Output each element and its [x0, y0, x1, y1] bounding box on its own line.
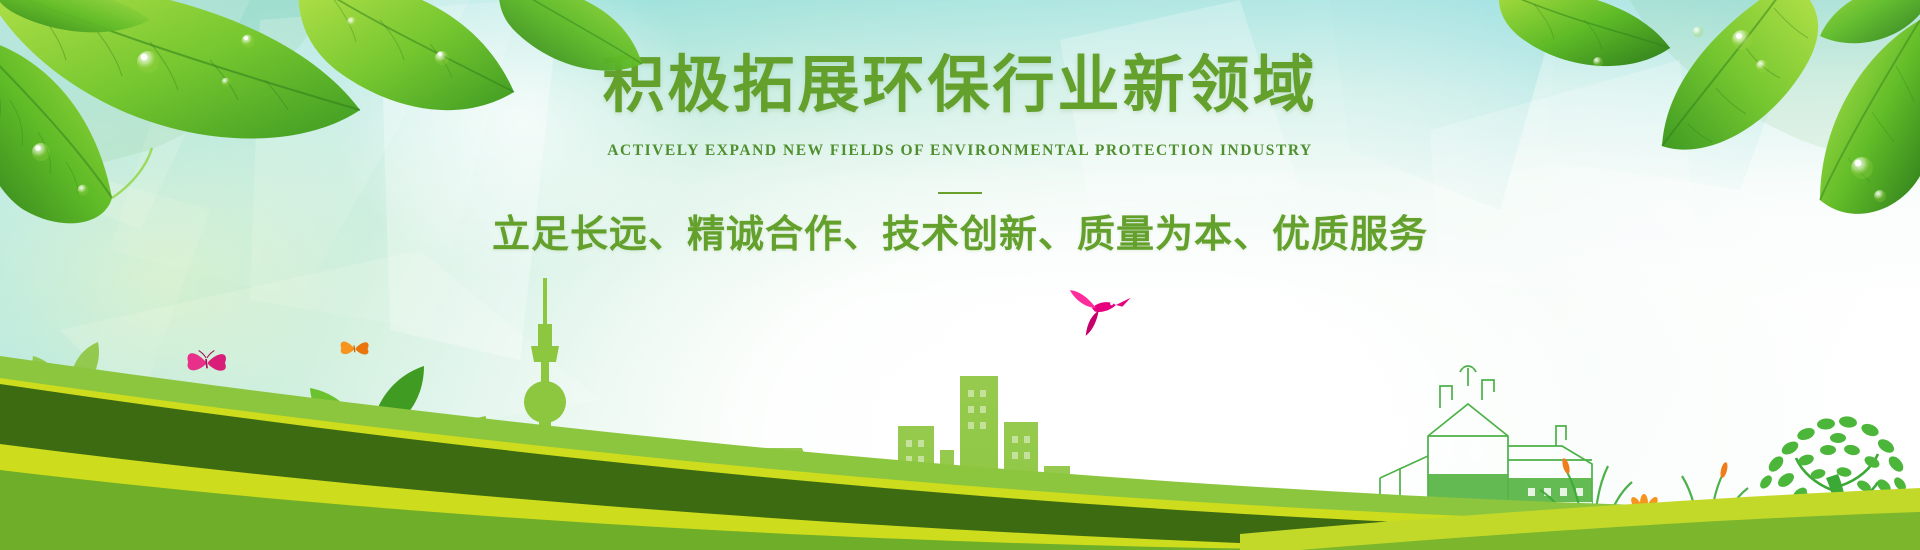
leaf-cluster-icon [1490, 0, 1920, 235]
title-divider [938, 192, 982, 194]
wave-band-shape [0, 320, 1920, 550]
environmental-banner: 积极拓展环保行业新领域 ACTIVELY EXPAND NEW FIELDS O… [0, 0, 1920, 550]
leaf-cluster-icon [0, 0, 760, 230]
